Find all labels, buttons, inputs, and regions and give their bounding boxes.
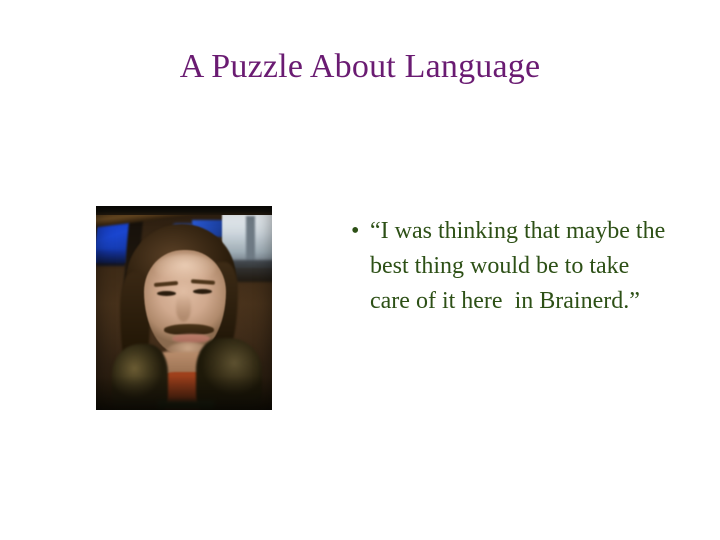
photo-content xyxy=(96,206,272,410)
bullet-icon: • xyxy=(348,214,370,249)
slide-canvas: A Puzzle About Language xyxy=(0,0,720,540)
list-item: • “I was thinking that maybe the best th… xyxy=(348,214,668,319)
photo-vignette xyxy=(96,206,272,410)
bullet-text: “I was thinking that maybe the best thin… xyxy=(370,214,668,319)
slide-photo xyxy=(96,206,272,410)
body-text-block: • “I was thinking that maybe the best th… xyxy=(348,214,668,319)
page-title: A Puzzle About Language xyxy=(0,46,720,88)
